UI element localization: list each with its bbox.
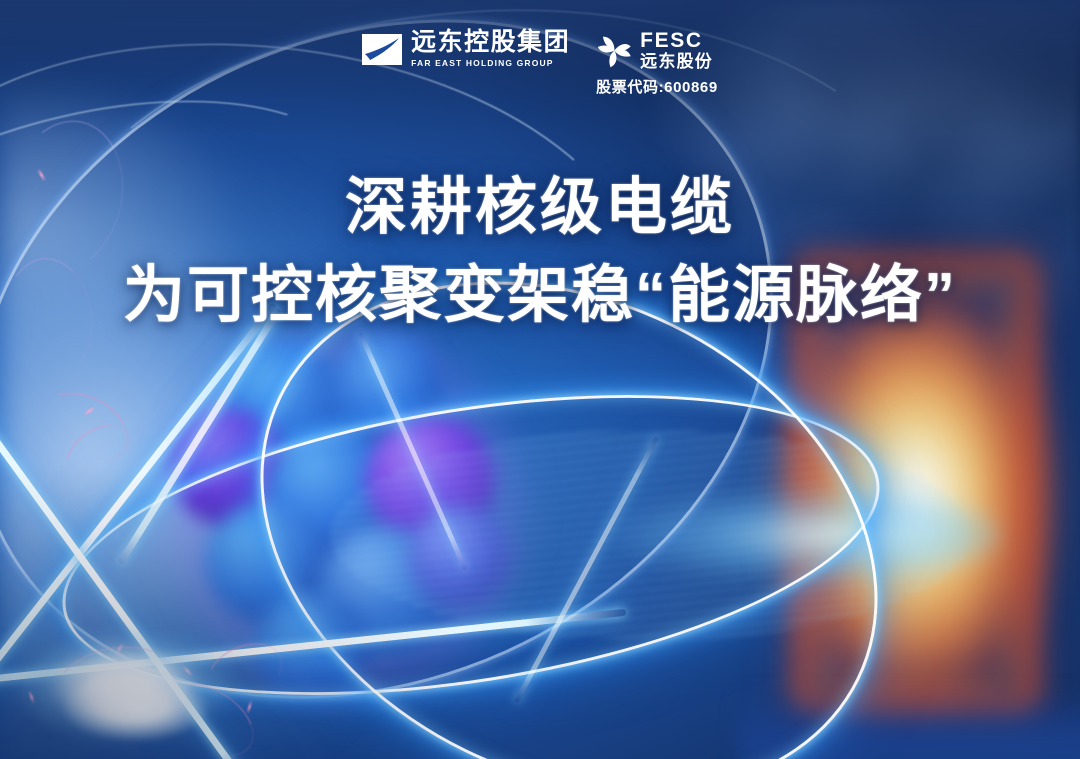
poster-title: 深耕核级电缆 为可控核聚变架稳“能源脉络” [0,164,1080,340]
far-east-en-name: FAR EAST HOLDING GROUP [411,58,570,69]
pinwheel-flower-icon [596,32,633,69]
far-east-holding-logo: 远东控股集团 FAR EAST HOLDING GROUP [362,30,570,69]
title-line-2: 为可控核聚变架稳“能源脉络” [0,252,1080,340]
title-line-1: 深耕核级电缆 [0,164,1080,252]
far-east-cn-name: 远东控股集团 [411,30,570,56]
light-burst-core [60,672,210,742]
logo-row: 远东控股集团 FAR EAST HOLDING GROUP [0,0,1080,104]
fesc-logo: FESC 远东股份 股票代码:600869 [596,30,718,97]
fesc-en-name: FESC [640,30,713,51]
stock-code-label: 股票代码:600869 [596,76,718,97]
fesc-logo-text: FESC 远东股份 [640,30,713,72]
poster-canvas: 远东控股集团 FAR EAST HOLDING GROUP [0,0,1080,759]
far-east-logo-text: 远东控股集团 FAR EAST HOLDING GROUP [411,30,570,69]
fesc-cn-name: 远东股份 [640,53,713,72]
arrow-swoosh-icon [362,34,402,65]
fesc-logo-top: FESC 远东股份 [596,30,713,72]
